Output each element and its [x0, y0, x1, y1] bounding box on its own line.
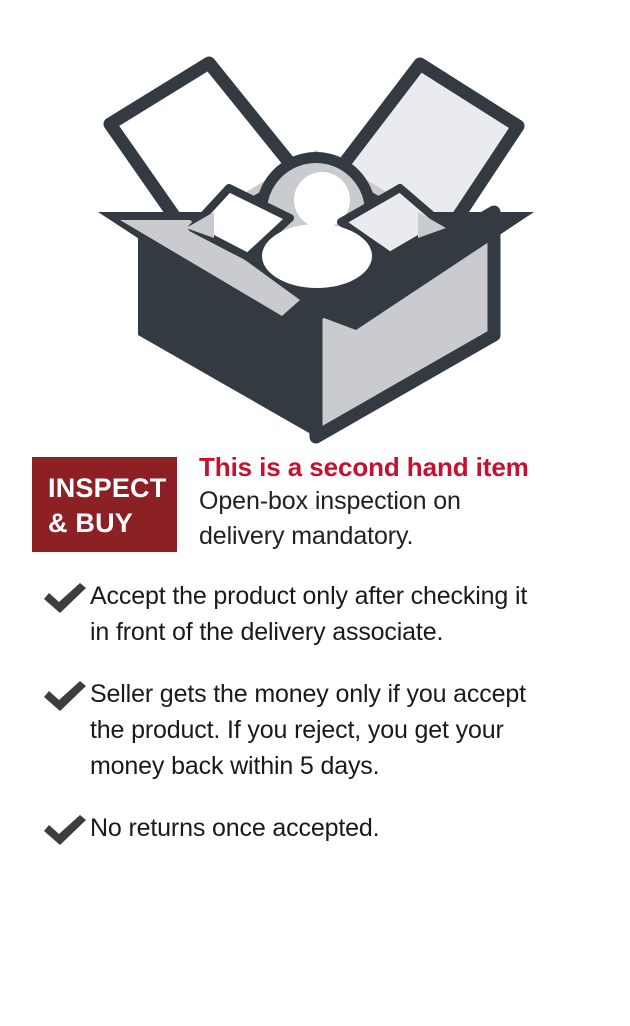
box-graphic	[98, 63, 534, 437]
list-item-line: Seller gets the money only if you accept	[90, 676, 612, 712]
headline-subtitle-line-1: Open-box inspection on	[199, 484, 619, 519]
headline-title: This is a second hand item	[199, 450, 619, 484]
headline-subtitle-line-2: delivery mandatory.	[199, 519, 619, 554]
open-box-illustration	[0, 0, 630, 450]
list-item: Seller gets the money only if you accept…	[0, 676, 630, 784]
check-icon	[42, 680, 88, 712]
inspect-and-buy-badge: INSPECT & BUY	[32, 457, 177, 552]
inspect-and-buy-panel: INSPECT & BUY This is a second hand item…	[0, 0, 630, 1026]
list-item: No returns once accepted.	[0, 810, 630, 846]
list-item-line: in front of the delivery associate.	[90, 614, 612, 650]
list-item-line: money back within 5 days.	[90, 748, 612, 784]
headline-text-group: This is a second hand item Open-box insp…	[199, 450, 619, 554]
list-item: Accept the product only after checking i…	[0, 578, 630, 650]
list-item-line: No returns once accepted.	[90, 810, 612, 846]
check-icon	[42, 814, 88, 846]
list-item-line: Accept the product only after checking i…	[90, 578, 612, 614]
badge-line-1: INSPECT	[48, 471, 177, 506]
badge-line-2: & BUY	[48, 506, 177, 541]
list-item-line: the product. If you reject, you get your	[90, 712, 612, 748]
headline-block: INSPECT & BUY This is a second hand item…	[0, 448, 630, 568]
policy-bullet-list: Accept the product only after checking i…	[0, 578, 630, 846]
check-icon	[42, 582, 88, 614]
content-item-oval	[262, 224, 372, 288]
